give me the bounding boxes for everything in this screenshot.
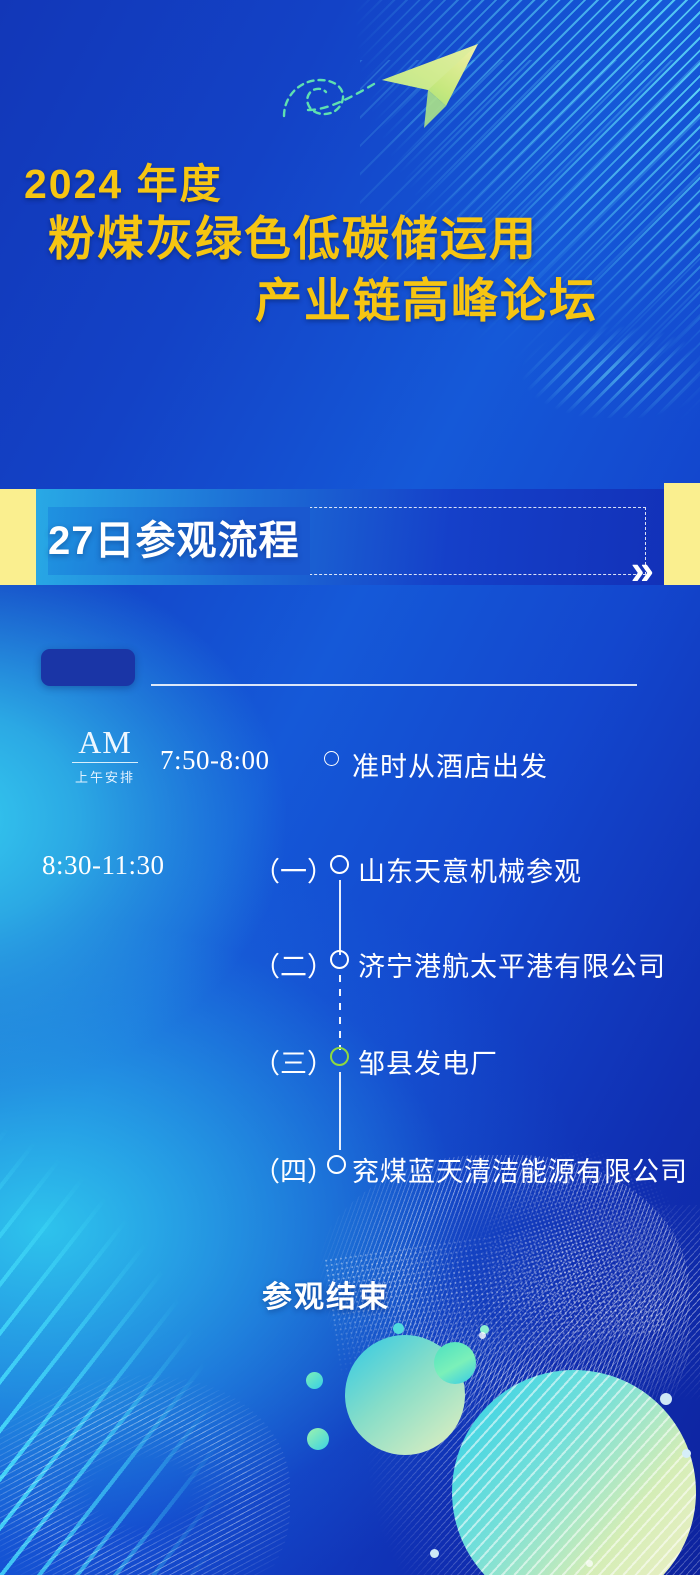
decorative-dot-icon [586,1560,593,1567]
decorative-dot-icon [682,1449,691,1458]
accent-bar-left [0,489,36,585]
decorative-dot-icon [393,1323,404,1334]
section-divider-rule [151,684,637,686]
paper-plane-icon [278,36,508,146]
schedule-marker-icon [330,950,349,969]
schedule-index: （四） [253,1150,334,1189]
poster-title: 2024 年度 粉煤灰绿色低碳储运用 产业链高峰论坛 [0,160,700,332]
schedule-marker-icon [330,1047,349,1066]
title-line-2: 粉煤灰绿色低碳储运用 [0,208,700,270]
accent-bar-right [664,483,700,585]
schedule-marker-icon [324,751,339,766]
title-line-1: 2024 年度 [0,160,700,208]
visit-end-label: 参观结束 [262,1272,390,1316]
daypart-label: 上午安排 [50,767,160,786]
schedule-event: 邹县发电厂 [358,1042,498,1081]
section-header-band: 27日参观流程 » [0,489,700,585]
schedule-index: （三） [253,1042,334,1081]
schedule-marker-icon [330,855,349,874]
schedule-time: 8:30-11:30 [42,850,165,881]
schedule-index: （一） [253,850,334,889]
schedule-time: 7:50-8:00 [160,745,270,776]
decorative-orb-small-icon [434,1342,476,1384]
section-header-title: 27日参观流程 [48,507,310,575]
schedule-event: 山东天意机械参观 [358,850,582,889]
chevron-double-right-icon: » [631,549,648,591]
schedule-event: 济宁港航太平港有限公司 [358,945,666,984]
schedule-marker-icon [327,1155,346,1174]
decorative-dot-icon [307,1428,329,1450]
section-badge [41,649,135,686]
decorative-dot-icon [430,1549,439,1558]
daypart-abbr: AM [50,726,160,760]
daypart-underline [72,762,138,763]
daypart-marker: AM 上午安排 [50,726,160,786]
schedule-index: （二） [253,945,334,984]
title-line-3: 产业链高峰论坛 [0,270,700,331]
paper-plane-decoration [278,36,508,146]
decorative-dot-icon [660,1393,672,1405]
schedule-event: 准时从酒店出发 [352,745,548,784]
decorative-dot-icon [479,1332,486,1339]
schedule-event: 兖煤蓝天清洁能源有限公司 [352,1150,688,1189]
poster-canvas: 2024 年度 粉煤灰绿色低碳储运用 产业链高峰论坛 27日参观流程 » AM … [0,0,700,1575]
decorative-dot-icon [306,1372,323,1389]
